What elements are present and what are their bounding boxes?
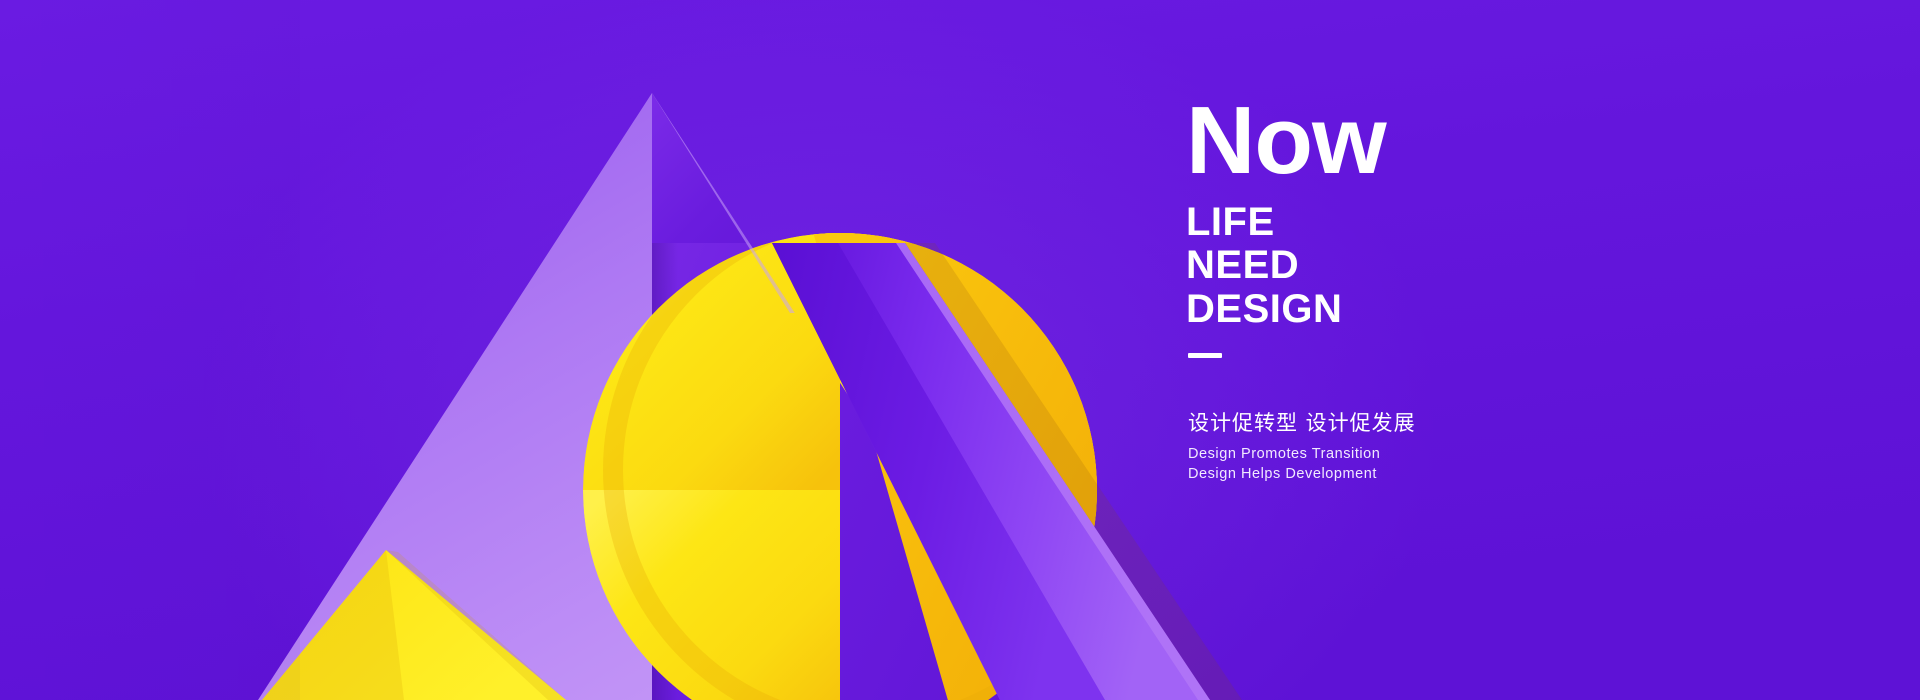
headline-line-design: DESIGN — [1186, 288, 1806, 332]
hero-banner: Now LIFE NEED DESIGN 设计促转型 设计促发展 Design … — [0, 0, 1920, 700]
copy-block: Now LIFE NEED DESIGN 设计促转型 设计促发展 Design … — [1186, 100, 1806, 485]
tagline-chinese: 设计促转型 设计促发展 — [1188, 410, 1806, 436]
headline-now: Now — [1186, 100, 1806, 183]
tagline-english-line-2: Design Helps Development — [1188, 464, 1806, 485]
tagline-english-line-1: Design Promotes Transition — [1188, 444, 1806, 465]
headline-line-life: LIFE — [1186, 201, 1806, 245]
headline-line-need: NEED — [1186, 244, 1806, 288]
divider-rule — [1188, 353, 1222, 358]
left-vignette — [0, 0, 300, 700]
